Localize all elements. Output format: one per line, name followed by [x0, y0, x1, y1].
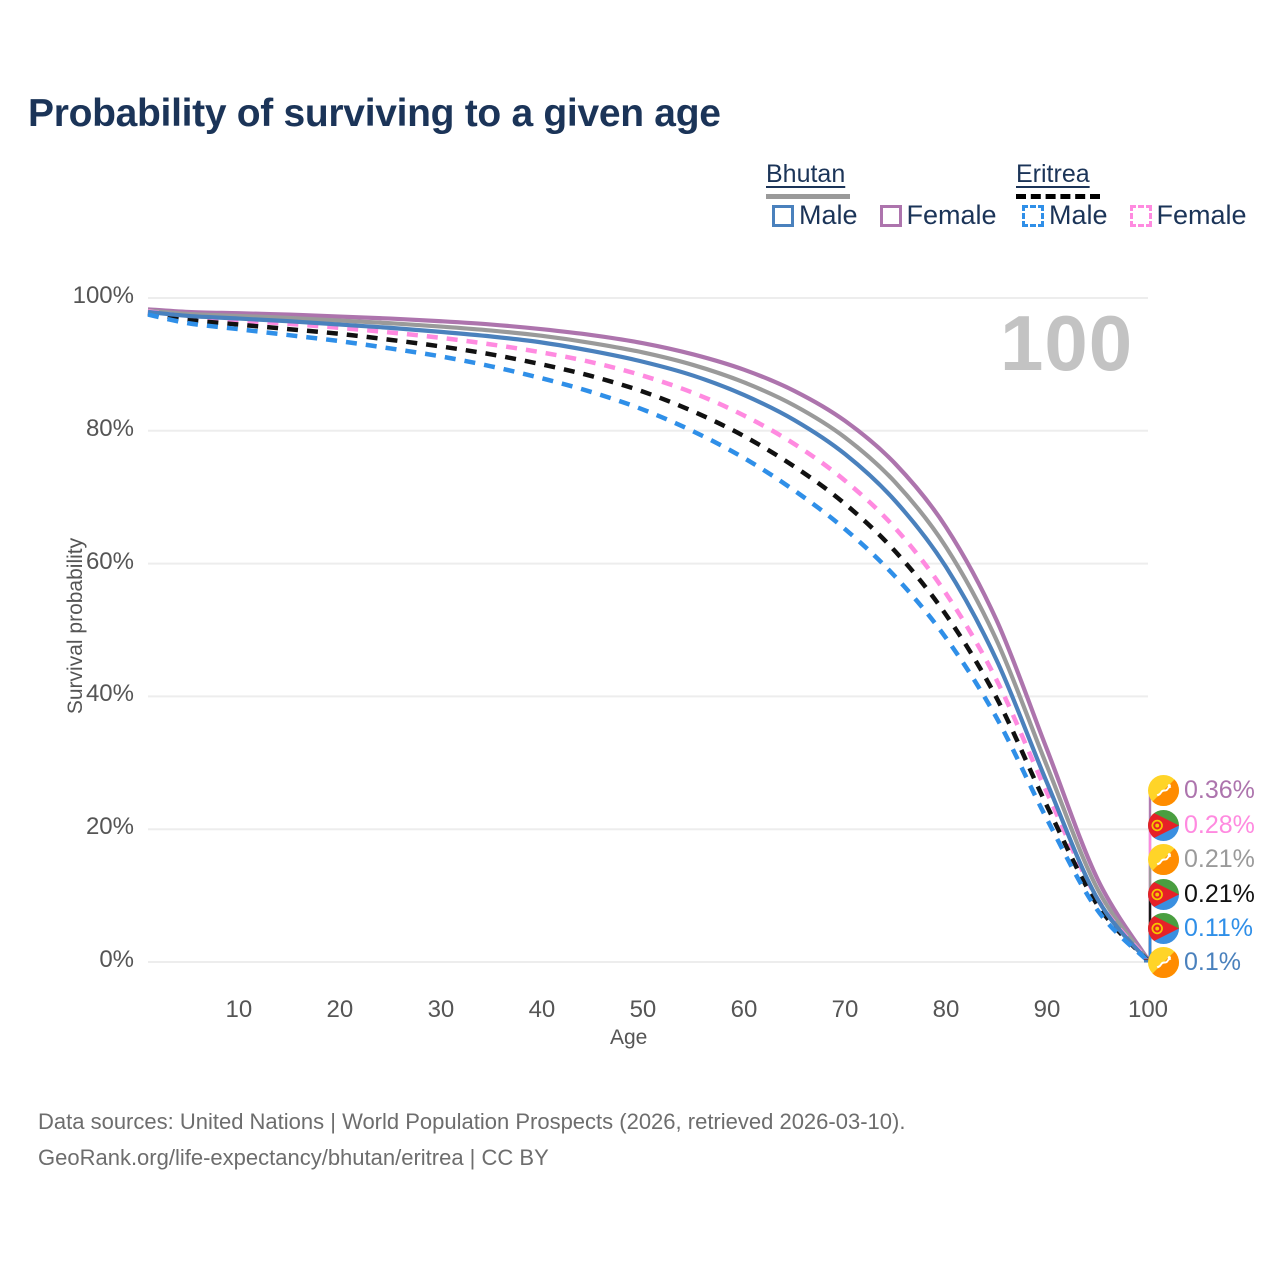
series-line: [148, 311, 1148, 961]
eritrea-flag: [1148, 810, 1179, 841]
y-axis-tick: 40%: [44, 680, 134, 708]
watermark-age: 100: [1000, 298, 1133, 389]
legend-swatch-icon: [1130, 205, 1152, 227]
legend-item-label: Female: [907, 202, 997, 229]
series-end-labels: 0.36%0.28%0.21%0.21%0.11%0.1%: [1148, 772, 1280, 988]
series-end-value: 0.28%: [1184, 811, 1255, 840]
legend-items-eritrea: Male Female: [1022, 202, 1247, 229]
x-axis-tick: 30: [406, 996, 476, 1024]
legend-item-eritrea-female[interactable]: Female: [1130, 202, 1247, 229]
series-line: [148, 315, 1148, 962]
series-end-label[interactable]: 0.36%: [1148, 773, 1255, 807]
y-axis-tick: 60%: [44, 548, 134, 576]
legend-rule-bhutan: [766, 194, 850, 199]
series-line: [148, 309, 1148, 959]
eritrea-flag: [1148, 913, 1179, 944]
legend-item-label: Male: [799, 202, 858, 229]
series-end-value: 0.21%: [1184, 845, 1255, 874]
series-line: [148, 313, 1148, 960]
x-axis-tick: 70: [810, 996, 880, 1024]
chart-page: Probability of surviving to a given age …: [0, 0, 1280, 1280]
x-axis-tick: 50: [608, 996, 678, 1024]
eritrea-flag-icon: [1148, 879, 1179, 910]
page-title: Probability of surviving to a given age: [28, 92, 721, 136]
footer-line-1: Data sources: United Nations | World Pop…: [38, 1104, 905, 1140]
legend-items-bhutan: Male Female: [772, 202, 997, 229]
series-end-label[interactable]: 0.28%: [1148, 808, 1255, 842]
series-end-label[interactable]: 0.11%: [1148, 911, 1253, 945]
series-end-label[interactable]: 0.21%: [1148, 842, 1255, 876]
bhutan-flag: [1148, 844, 1179, 875]
x-axis-tick: 40: [507, 996, 577, 1024]
eritrea-flag: [1148, 879, 1179, 910]
legend-item-label: Male: [1049, 202, 1108, 229]
legend-item-bhutan-male[interactable]: Male: [772, 202, 858, 229]
legend-item-eritrea-male[interactable]: Male: [1022, 202, 1108, 229]
eritrea-flag-icon: [1148, 913, 1179, 944]
x-axis-label: Age: [610, 1026, 647, 1050]
x-axis-tick: 20: [305, 996, 375, 1024]
series-end-label[interactable]: 0.21%: [1148, 877, 1255, 911]
y-axis-tick: 20%: [44, 813, 134, 841]
bhutan-flag: [1148, 947, 1179, 978]
bhutan-flag: [1148, 775, 1179, 806]
legend-country-eritrea: Eritrea: [1016, 160, 1100, 188]
x-axis-tick: 80: [911, 996, 981, 1024]
legend-item-bhutan-female[interactable]: Female: [880, 202, 997, 229]
series-end-value: 0.21%: [1184, 880, 1255, 909]
series-line: [148, 312, 1148, 961]
series-end-value: 0.36%: [1184, 776, 1255, 805]
bhutan-flag-icon: [1148, 947, 1179, 978]
footer-line-2: GeoRank.org/life-expectancy/bhutan/eritr…: [38, 1140, 905, 1176]
legend-swatch-icon: [880, 205, 902, 227]
legend-swatch-icon: [772, 205, 794, 227]
y-axis-tick: 0%: [44, 946, 134, 974]
legend-country-bhutan: Bhutan: [766, 160, 850, 188]
bhutan-flag-icon: [1148, 775, 1179, 806]
eritrea-flag-icon: [1148, 810, 1179, 841]
y-axis-tick: 100%: [44, 282, 134, 310]
footer-credits: Data sources: United Nations | World Pop…: [38, 1104, 905, 1176]
legend-group-eritrea: Eritrea Male Female: [1016, 160, 1100, 199]
chart-legend: Bhutan Male Female Eritrea Male: [760, 160, 1260, 250]
series-end-value: 0.1%: [1184, 948, 1241, 977]
legend-rule-eritrea: [1016, 194, 1100, 199]
series-line: [148, 311, 1148, 960]
series-end-label[interactable]: 0.1%: [1148, 945, 1241, 979]
x-axis-tick: 90: [1012, 996, 1082, 1024]
legend-item-label: Female: [1157, 202, 1247, 229]
legend-group-bhutan: Bhutan Male Female: [766, 160, 850, 199]
x-axis-tick: 60: [709, 996, 779, 1024]
bhutan-flag-icon: [1148, 844, 1179, 875]
series-end-value: 0.11%: [1184, 914, 1253, 943]
y-axis-tick: 80%: [44, 415, 134, 443]
legend-swatch-icon: [1022, 205, 1044, 227]
x-axis-tick: 100: [1113, 996, 1183, 1024]
x-axis-tick: 10: [204, 996, 274, 1024]
